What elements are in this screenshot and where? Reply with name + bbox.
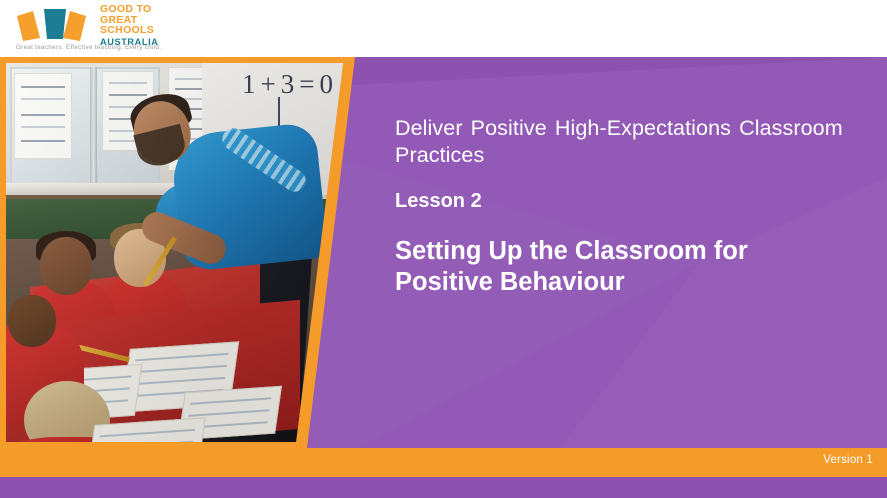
logo-line-3: SCHOOLS xyxy=(100,25,176,36)
photo-window-mullion xyxy=(90,67,97,185)
title-slide: GOOD TO GREAT SCHOOLS AUSTRALIA Great te… xyxy=(0,0,887,498)
lesson-number-label: Lesson 2 xyxy=(395,189,850,214)
lesson-title: Setting Up the Classroom for Positive Be… xyxy=(395,236,815,298)
version-label: Version 1 xyxy=(823,454,873,466)
photo-poster-a xyxy=(14,73,72,159)
footer-orange-bar xyxy=(0,448,887,477)
logo-line-1: GOOD TO xyxy=(100,4,176,15)
photo-student-1-head xyxy=(40,237,92,295)
photo-board-equation: 1+3=0 xyxy=(242,69,338,100)
classroom-photo: 1+3=0 xyxy=(6,63,349,442)
slide-header: GOOD TO GREAT SCHOOLS AUSTRALIA Great te… xyxy=(0,0,887,57)
title-text-block: Deliver Positive High-Expectations Class… xyxy=(395,115,850,298)
course-title: Deliver Positive High-Expectations Class… xyxy=(395,115,850,169)
photo-student-3-head xyxy=(8,295,56,347)
three-cups-logo-mark xyxy=(14,5,94,43)
logo-tagline: Great teachers. Effective teaching. Ever… xyxy=(16,44,161,51)
photo-orange-frame: 1+3=0 xyxy=(0,57,355,448)
footer-purple-bar xyxy=(0,477,887,498)
logo-wordmark: GOOD TO GREAT SCHOOLS AUSTRALIA xyxy=(100,4,176,48)
